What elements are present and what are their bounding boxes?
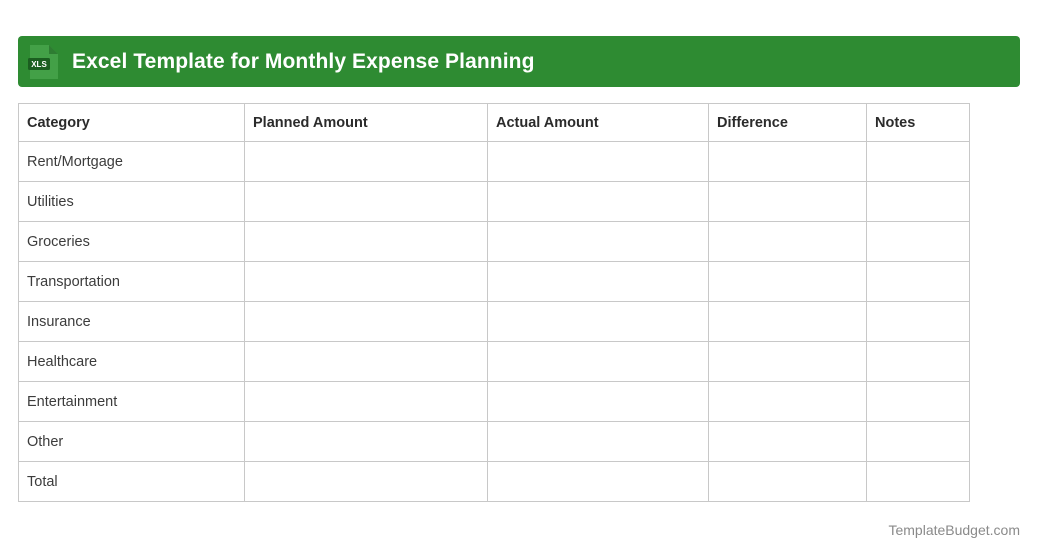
cell-notes[interactable] (867, 142, 970, 182)
cell-actual[interactable] (488, 222, 709, 262)
table-header-row: Category Planned Amount Actual Amount Di… (19, 104, 970, 142)
cell-actual[interactable] (488, 182, 709, 222)
table-row: Utilities (19, 182, 970, 222)
cell-category: Transportation (19, 262, 245, 302)
cell-notes[interactable] (867, 342, 970, 382)
table-row: Rent/Mortgage (19, 142, 970, 182)
table-row: Other (19, 422, 970, 462)
column-header-notes: Notes (867, 104, 970, 142)
table-row: Transportation (19, 262, 970, 302)
cell-notes[interactable] (867, 302, 970, 342)
cell-category: Utilities (19, 182, 245, 222)
footer-attribution: TemplateBudget.com (888, 522, 1020, 538)
cell-difference[interactable] (709, 462, 867, 502)
cell-difference[interactable] (709, 382, 867, 422)
cell-planned[interactable] (245, 182, 488, 222)
column-header-difference: Difference (709, 104, 867, 142)
cell-actual[interactable] (488, 302, 709, 342)
cell-category: Insurance (19, 302, 245, 342)
cell-actual[interactable] (488, 142, 709, 182)
cell-category: Other (19, 422, 245, 462)
cell-difference[interactable] (709, 262, 867, 302)
column-header-actual: Actual Amount (488, 104, 709, 142)
cell-difference[interactable] (709, 302, 867, 342)
table-row: Entertainment (19, 382, 970, 422)
cell-planned[interactable] (245, 342, 488, 382)
cell-planned[interactable] (245, 222, 488, 262)
cell-notes[interactable] (867, 462, 970, 502)
xls-file-icon: XLS (28, 44, 60, 80)
page-title: Excel Template for Monthly Expense Plann… (72, 51, 535, 72)
cell-category: Total (19, 462, 245, 502)
cell-difference[interactable] (709, 342, 867, 382)
cell-actual[interactable] (488, 422, 709, 462)
cell-planned[interactable] (245, 462, 488, 502)
table-row-total: Total (19, 462, 970, 502)
cell-category: Rent/Mortgage (19, 142, 245, 182)
cell-actual[interactable] (488, 342, 709, 382)
column-header-planned: Planned Amount (245, 104, 488, 142)
cell-planned[interactable] (245, 302, 488, 342)
cell-category: Healthcare (19, 342, 245, 382)
table-row: Groceries (19, 222, 970, 262)
table-row: Healthcare (19, 342, 970, 382)
cell-planned[interactable] (245, 262, 488, 302)
cell-notes[interactable] (867, 182, 970, 222)
cell-actual[interactable] (488, 462, 709, 502)
cell-planned[interactable] (245, 382, 488, 422)
cell-category: Groceries (19, 222, 245, 262)
cell-actual[interactable] (488, 382, 709, 422)
template-title-bar: XLS Excel Template for Monthly Expense P… (18, 36, 1020, 87)
xls-icon-label: XLS (31, 60, 47, 69)
cell-difference[interactable] (709, 182, 867, 222)
expense-template-page: XLS Excel Template for Monthly Expense P… (0, 0, 1040, 560)
cell-notes[interactable] (867, 222, 970, 262)
cell-difference[interactable] (709, 222, 867, 262)
cell-notes[interactable] (867, 422, 970, 462)
column-header-category: Category (19, 104, 245, 142)
cell-planned[interactable] (245, 422, 488, 462)
cell-category: Entertainment (19, 382, 245, 422)
cell-actual[interactable] (488, 262, 709, 302)
cell-notes[interactable] (867, 382, 970, 422)
cell-notes[interactable] (867, 262, 970, 302)
cell-planned[interactable] (245, 142, 488, 182)
table-row: Insurance (19, 302, 970, 342)
cell-difference[interactable] (709, 422, 867, 462)
expense-planning-table: Category Planned Amount Actual Amount Di… (18, 103, 970, 502)
cell-difference[interactable] (709, 142, 867, 182)
